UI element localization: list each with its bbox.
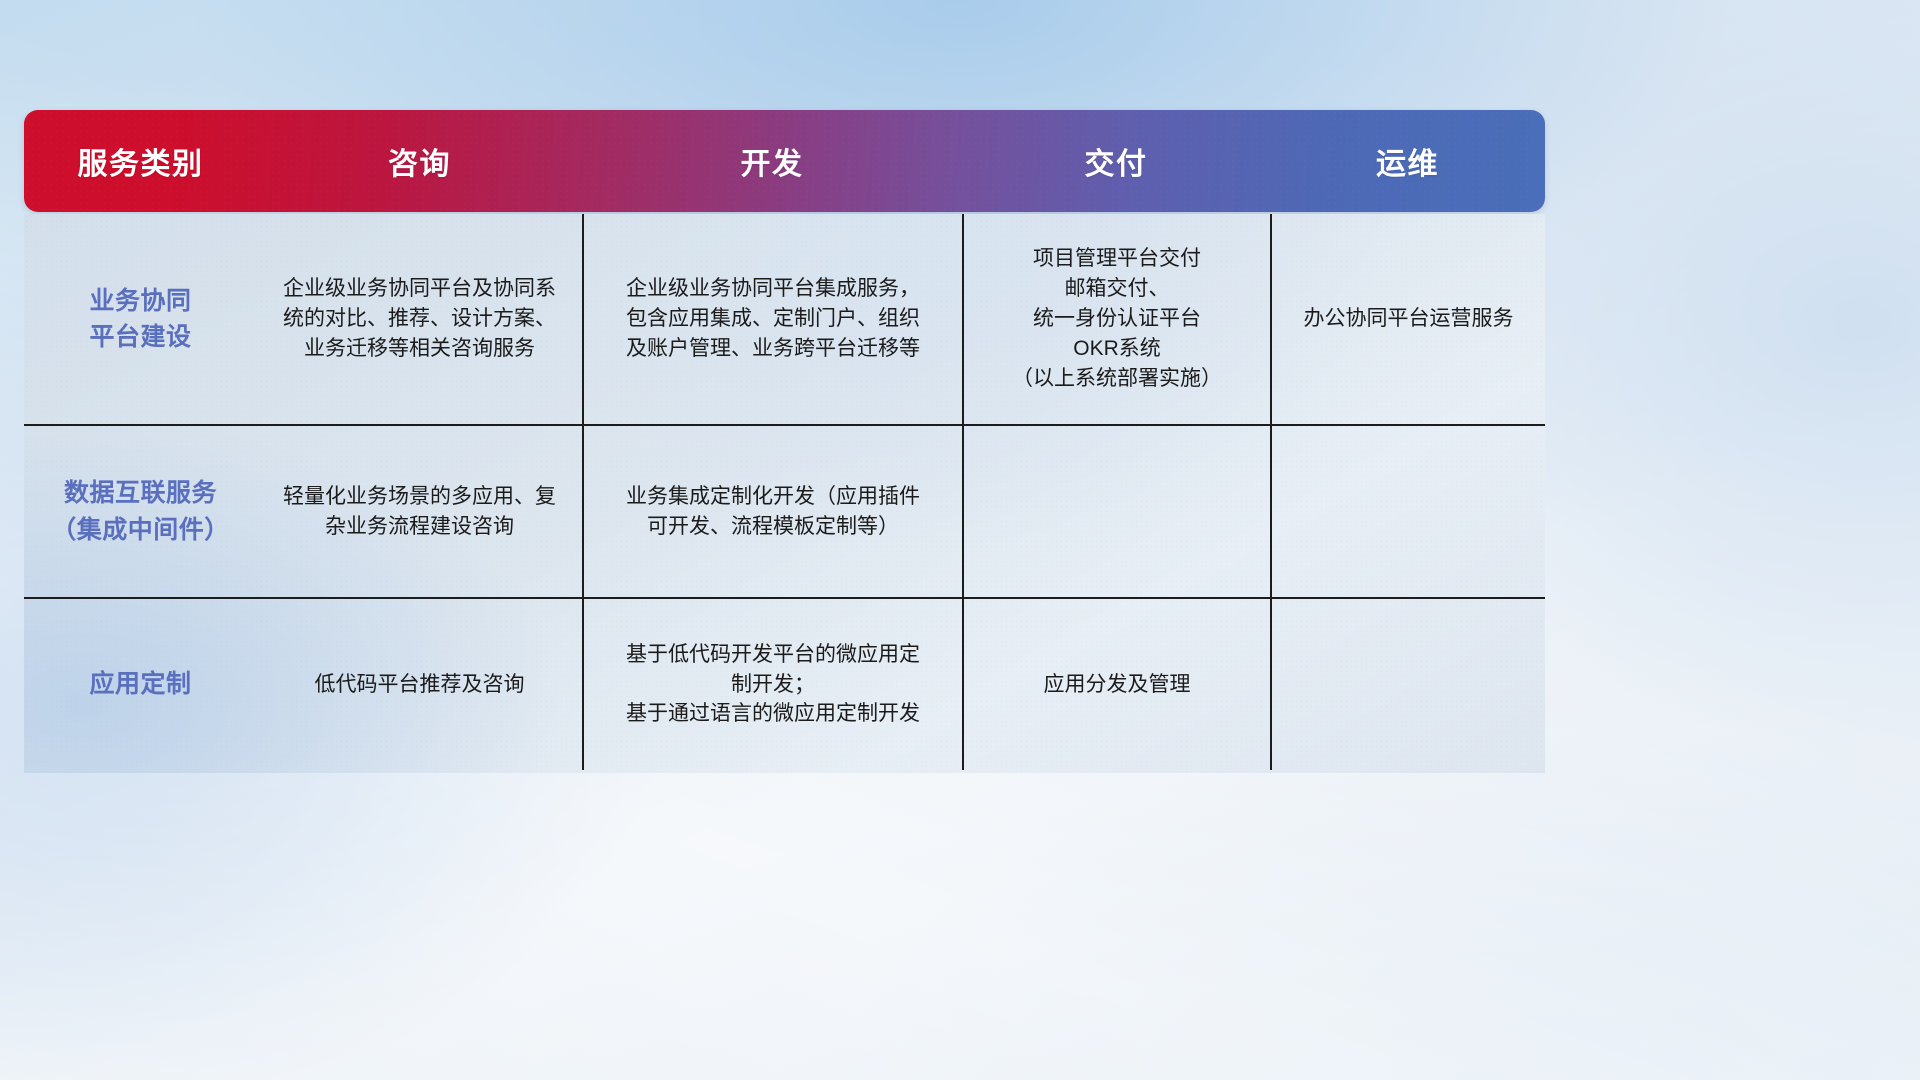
- cell-delivery: 项目管理平台交付邮箱交付、统一身份认证平台OKR系统（以上系统部署实施）: [962, 214, 1270, 424]
- cell-text: 办公协同平台运营服务: [1304, 304, 1514, 334]
- cell-delivery: [962, 426, 1270, 597]
- cell-consulting: 轻量化业务场景的多应用、复杂业务流程建设咨询: [257, 426, 582, 597]
- table-row: 应用定制 低代码平台推荐及咨询 基于低代码开发平台的微应用定制开发；基于通过语言…: [24, 597, 1545, 770]
- row-label-text: 数据互联服务（集成中间件）: [51, 475, 230, 548]
- cell-development: 基于低代码开发平台的微应用定制开发；基于通过语言的微应用定制开发: [582, 599, 962, 770]
- cell-text: 应用分发及管理: [1044, 670, 1191, 700]
- column-header-operations: 运维: [1270, 139, 1545, 183]
- row-label-business-collaboration: 业务协同平台建设: [24, 214, 257, 424]
- table-row: 业务协同平台建设 企业级业务协同平台及协同系统的对比、推荐、设计方案、业务迁移等…: [24, 214, 1545, 424]
- cell-text: 轻量化业务场景的多应用、复杂业务流程建设咨询: [283, 482, 556, 542]
- table-body: 业务协同平台建设 企业级业务协同平台及协同系统的对比、推荐、设计方案、业务迁移等…: [24, 214, 1545, 773]
- row-label-app-customization: 应用定制: [24, 599, 257, 770]
- cell-text: 低代码平台推荐及咨询: [315, 670, 525, 700]
- cell-operations: 办公协同平台运营服务: [1270, 214, 1545, 424]
- column-header-consulting: 咨询: [257, 139, 582, 183]
- row-label-data-interconnect: 数据互联服务（集成中间件）: [24, 426, 257, 597]
- table-row: 数据互联服务（集成中间件） 轻量化业务场景的多应用、复杂业务流程建设咨询 业务集…: [24, 424, 1545, 597]
- column-header-category: 服务类别: [24, 139, 257, 183]
- cell-text: 基于低代码开发平台的微应用定制开发；基于通过语言的微应用定制开发: [626, 640, 920, 729]
- cell-development: 业务集成定制化开发（应用插件可开发、流程模板定制等）: [582, 426, 962, 597]
- row-label-text: 应用定制: [89, 666, 191, 702]
- cell-text: 项目管理平台交付邮箱交付、统一身份认证平台OKR系统（以上系统部署实施）: [1012, 244, 1222, 393]
- cell-text: 企业级业务协同平台集成服务，包含应用集成、定制门户、组织及账户管理、业务跨平台迁…: [626, 274, 920, 363]
- row-label-text: 业务协同平台建设: [89, 283, 191, 356]
- column-header-development: 开发: [582, 139, 962, 183]
- cell-development: 企业级业务协同平台集成服务，包含应用集成、定制门户、组织及账户管理、业务跨平台迁…: [582, 214, 962, 424]
- column-header-delivery: 交付: [962, 139, 1270, 183]
- cell-text: 企业级业务协同平台及协同系统的对比、推荐、设计方案、业务迁移等相关咨询服务: [283, 274, 556, 363]
- service-category-table: 服务类别 咨询 开发 交付 运维 业务协同平台建设 企业级业务协同平台及协同系统…: [24, 110, 1545, 773]
- cell-operations: [1270, 599, 1545, 770]
- table-header-row: 服务类别 咨询 开发 交付 运维: [24, 110, 1545, 212]
- cell-consulting: 企业级业务协同平台及协同系统的对比、推荐、设计方案、业务迁移等相关咨询服务: [257, 214, 582, 424]
- cell-operations: [1270, 426, 1545, 597]
- cell-delivery: 应用分发及管理: [962, 599, 1270, 770]
- cell-consulting: 低代码平台推荐及咨询: [257, 599, 582, 770]
- cell-text: 业务集成定制化开发（应用插件可开发、流程模板定制等）: [626, 482, 920, 542]
